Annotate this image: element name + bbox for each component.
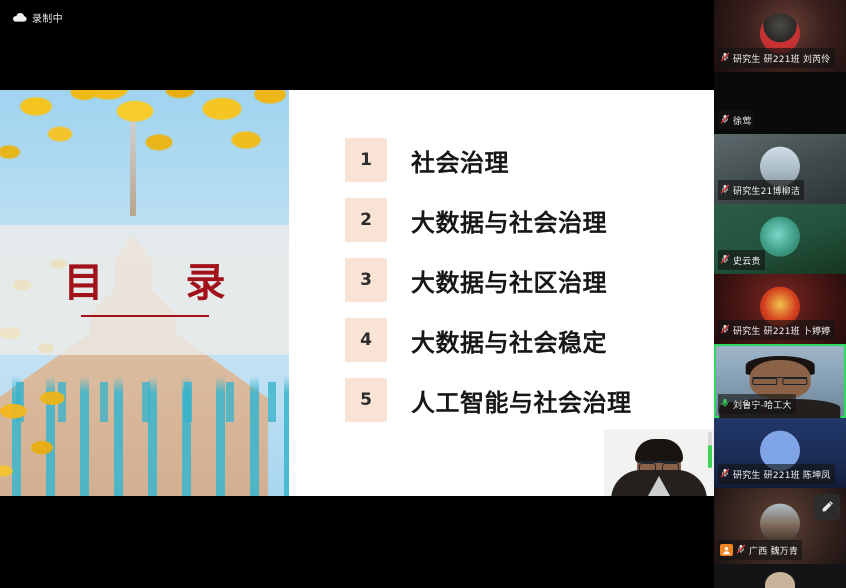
toc-item-label: 社会治理 — [411, 143, 509, 178]
participant-name: 研究生21博柳洁 — [733, 184, 800, 197]
participant-tile-active-speaker[interactable]: 刘鲁宁-哈工大 — [714, 344, 846, 418]
toc-item-number: 3 — [345, 258, 387, 302]
toc-heading-band: 目 录 — [0, 225, 289, 355]
annotate-pen-icon[interactable] — [814, 494, 840, 520]
participant-namebar: 研究生 研221班 陈坤凤 — [718, 464, 835, 484]
toc-list-item: 5 人工智能与社会治理 — [345, 378, 714, 422]
participant-namebar: 史云贵 — [718, 250, 765, 270]
participant-namebar: 研究生 研221班 刘芮伶 — [718, 48, 835, 68]
participant-namebar: 徐莺 — [718, 110, 755, 130]
mic-muted-icon — [720, 49, 730, 67]
toc-item-label: 大数据与社会治理 — [411, 203, 607, 238]
toc-item-number: 1 — [345, 138, 387, 182]
participant-namebar: 研究生21博柳洁 — [718, 180, 804, 200]
participant-name: 研究生 研221班 卜婷婷 — [733, 324, 831, 337]
participant-tile[interactable]: 研究生 研221班 卜婷婷 — [714, 274, 846, 344]
toc-heading: 目 录 — [30, 263, 260, 303]
participant-tile-partial[interactable] — [714, 564, 846, 588]
participant-name: 刘鲁宁-哈工大 — [733, 398, 792, 411]
mic-muted-icon — [736, 541, 746, 559]
participant-namebar: 研究生 研221班 卜婷婷 — [718, 320, 835, 340]
participant-tile[interactable]: 研究生 研221班 刘芮伶 — [714, 0, 846, 72]
mic-muted-icon — [720, 181, 730, 199]
avatar — [760, 217, 800, 257]
volume-meter — [708, 432, 712, 468]
toc-list-item: 4 大数据与社会稳定 — [345, 318, 714, 362]
participant-tile[interactable]: 徐莺 — [714, 72, 846, 134]
toc-item-label: 人工智能与社会治理 — [411, 383, 632, 418]
toc-item-number: 5 — [345, 378, 387, 422]
participants-filmstrip[interactable]: 研究生 研221班 刘芮伶 徐莺 研究生21博柳洁 — [714, 0, 846, 588]
glasses-icon — [752, 377, 807, 384]
host-badge-icon — [720, 544, 733, 556]
participant-namebar: 广西 魏万青 — [718, 540, 802, 560]
avatar — [760, 504, 800, 544]
mic-muted-icon — [720, 321, 730, 339]
avatar — [765, 572, 795, 588]
participant-tile[interactable]: 研究生21博柳洁 — [714, 134, 846, 204]
mic-muted-icon — [720, 111, 730, 129]
recording-indicator: 录制中 — [12, 10, 63, 25]
toc-list-item: 2 大数据与社会治理 — [345, 198, 714, 242]
participant-tile-host[interactable]: 广西 魏万青 — [714, 488, 846, 564]
zoom-meeting-window: 录制中 目 录 1 社 — [0, 0, 846, 588]
participant-namebar: 刘鲁宁-哈工大 — [718, 394, 796, 414]
toc-list-item: 1 社会治理 — [345, 138, 714, 182]
participant-name: 广西 魏万青 — [749, 544, 798, 557]
toc-item-label: 大数据与社会稳定 — [411, 323, 607, 358]
participant-tile[interactable]: 研究生 研221班 陈坤凤 — [714, 418, 846, 488]
ginkgo-leaves-low — [0, 380, 120, 496]
toc-item-label: 大数据与社区治理 — [411, 263, 607, 298]
ginkgo-leaves-top — [0, 90, 289, 200]
mic-muted-icon — [720, 465, 730, 483]
toc-list-item: 3 大数据与社区治理 — [345, 258, 714, 302]
participant-name: 徐莺 — [733, 114, 751, 127]
pip-hair — [635, 439, 683, 463]
participant-name: 研究生 研221班 陈坤凤 — [733, 468, 831, 481]
participant-name: 研究生 研221班 刘芮伶 — [733, 52, 831, 65]
toc-heading-underline — [81, 315, 209, 317]
toc-item-number: 4 — [345, 318, 387, 362]
cloud-recording-icon — [12, 13, 27, 22]
mic-muted-icon — [720, 251, 730, 269]
slide-photo-campus: 目 录 — [0, 90, 289, 496]
presenter-video-pip[interactable] — [604, 429, 714, 496]
toc-item-number: 2 — [345, 198, 387, 242]
recording-label: 录制中 — [32, 10, 63, 25]
participant-name: 史云贵 — [733, 254, 761, 267]
shared-screen-stage: 录制中 目 录 1 社 — [0, 0, 714, 588]
participant-tile[interactable]: 史云贵 — [714, 204, 846, 274]
mic-active-icon — [720, 395, 730, 413]
